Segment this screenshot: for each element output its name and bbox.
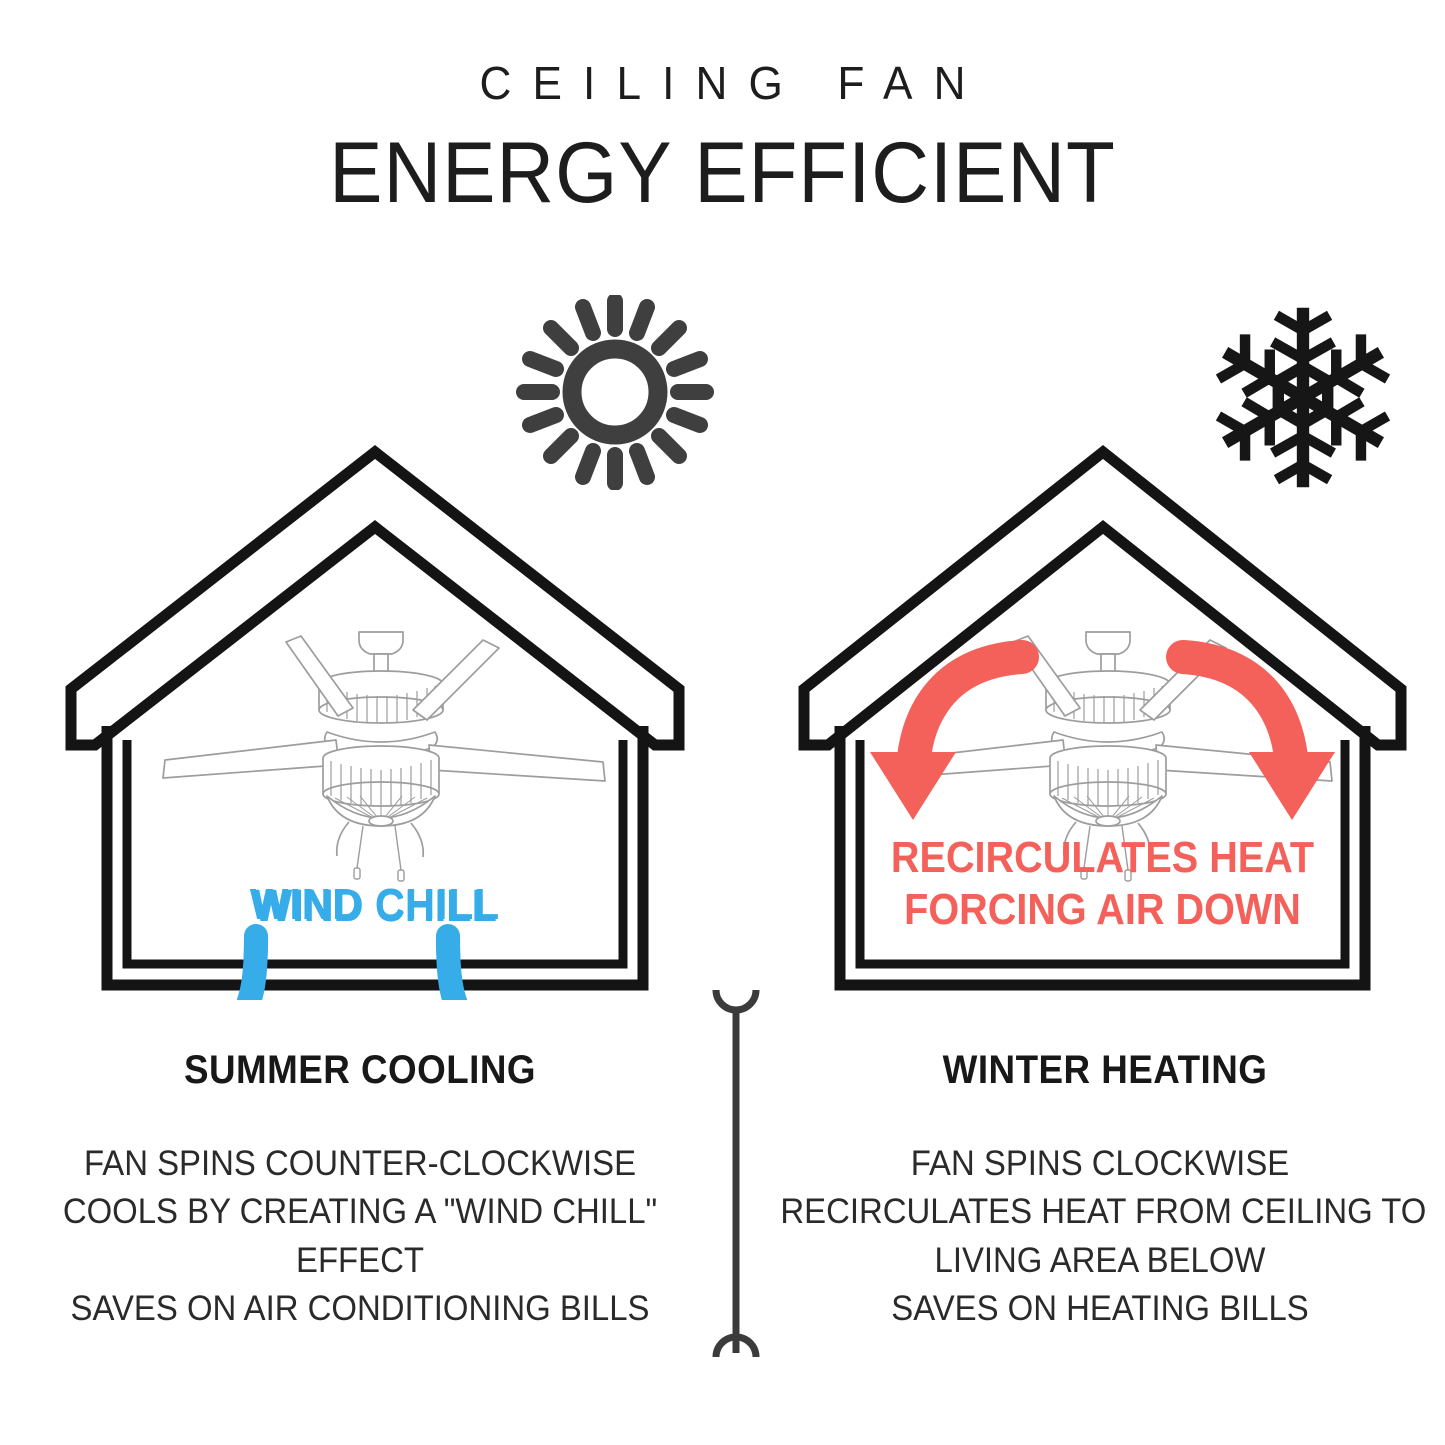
summer-heading: SUMMER COOLING xyxy=(56,1048,663,1093)
winter-body: FAN SPINS CLOCKWISE RECIRCULATES HEAT FR… xyxy=(780,1140,1419,1333)
infographic-canvas: CEILING FAN ENERGY EFFICIENT xyxy=(0,0,1445,1445)
winter-callout-line-1: RECIRCULATES HEAT xyxy=(821,832,1384,884)
summer-body-line-3: EFFECT xyxy=(40,1237,679,1285)
fan-blade xyxy=(163,740,339,778)
winter-body-line-1: FAN SPINS CLOCKWISE xyxy=(780,1140,1419,1188)
ceiling-fan-icon xyxy=(163,632,605,881)
winter-body-line-4: SAVES ON HEATING BILLS xyxy=(780,1285,1419,1333)
page-kicker: CEILING FAN xyxy=(29,56,1416,110)
summer-body-line-2: COOLS BY CREATING A "WIND CHILL" xyxy=(40,1188,679,1236)
winter-body-line-2: RECIRCULATES HEAT FROM CEILING TO xyxy=(780,1188,1419,1236)
summer-body-line-1: FAN SPINS COUNTER-CLOCKWISE xyxy=(40,1140,679,1188)
summer-body-line-4: SAVES ON AIR CONDITIONING BILLS xyxy=(40,1285,679,1333)
vertical-divider-icon xyxy=(705,985,767,1385)
page-title: ENERGY EFFICIENT xyxy=(51,128,1395,218)
winter-body-line-3: LIVING AREA BELOW xyxy=(780,1237,1419,1285)
winter-callout-line-2: FORCING AIR DOWN xyxy=(821,884,1384,936)
summer-body: FAN SPINS COUNTER-CLOCKWISE COOLS BY CRE… xyxy=(40,1140,679,1333)
summer-callout: WIND CHILL xyxy=(55,880,695,932)
summer-callout-text: WIND CHILL xyxy=(81,880,670,932)
fan-blade xyxy=(429,745,605,781)
winter-heading: WINTER HEATING xyxy=(806,1048,1404,1093)
winter-callout: RECIRCULATES HEAT FORCING AIR DOWN xyxy=(790,832,1415,936)
